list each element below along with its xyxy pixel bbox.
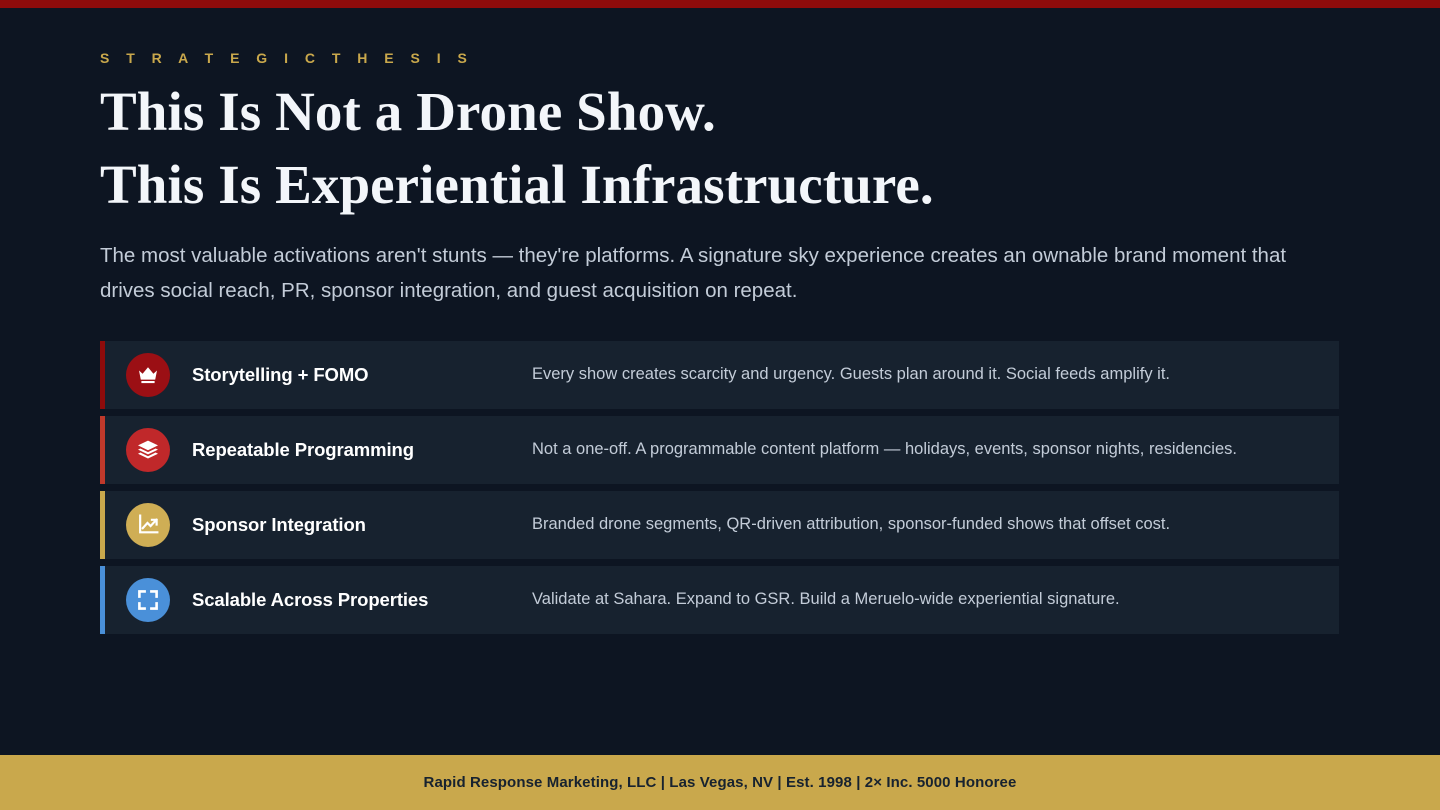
- footer-text: Rapid Response Marketing, LLC | Las Vega…: [424, 774, 1017, 791]
- pillar-description: Every show creates scarcity and urgency.…: [532, 362, 1339, 387]
- pillar-title: Storytelling + FOMO: [192, 364, 532, 386]
- pillar-description: Branded drone segments, QR-driven attrib…: [532, 512, 1339, 537]
- crown-icon: [126, 353, 170, 397]
- layers-icon: [126, 428, 170, 472]
- top-accent-bar: [0, 0, 1440, 8]
- pillar-accent-bar: [100, 566, 105, 634]
- chart-trending-up-icon: [126, 503, 170, 547]
- pillar-list: Storytelling + FOMO Every show creates s…: [100, 341, 1339, 634]
- eyebrow-label: S T R A T E G I C T H E S I S: [100, 50, 1340, 66]
- pillar-title: Repeatable Programming: [192, 439, 532, 461]
- pillar-title: Sponsor Integration: [192, 514, 532, 536]
- pillar-accent-bar: [100, 491, 105, 559]
- footer-bar: Rapid Response Marketing, LLC | Las Vega…: [0, 755, 1440, 810]
- pillar-description: Validate at Sahara. Expand to GSR. Build…: [532, 587, 1339, 612]
- pillar-row: Repeatable Programming Not a one-off. A …: [100, 416, 1339, 484]
- slide-root: S T R A T E G I C T H E S I S This Is No…: [0, 0, 1440, 810]
- pillar-accent-bar: [100, 416, 105, 484]
- pillar-row: Storytelling + FOMO Every show creates s…: [100, 341, 1339, 409]
- pillar-accent-bar: [100, 341, 105, 409]
- subheading-paragraph: The most valuable activations aren't stu…: [100, 239, 1300, 307]
- slide-content: S T R A T E G I C T H E S I S This Is No…: [0, 8, 1440, 755]
- expand-fullscreen-icon: [126, 578, 170, 622]
- headline-line-2: This Is Experiential Infrastructure.: [100, 148, 1340, 221]
- headline-line-1: This Is Not a Drone Show.: [100, 75, 1340, 148]
- pillar-title: Scalable Across Properties: [192, 589, 532, 611]
- pillar-description: Not a one-off. A programmable content pl…: [532, 437, 1339, 462]
- pillar-row: Scalable Across Properties Validate at S…: [100, 566, 1339, 634]
- pillar-row: Sponsor Integration Branded drone segmen…: [100, 491, 1339, 559]
